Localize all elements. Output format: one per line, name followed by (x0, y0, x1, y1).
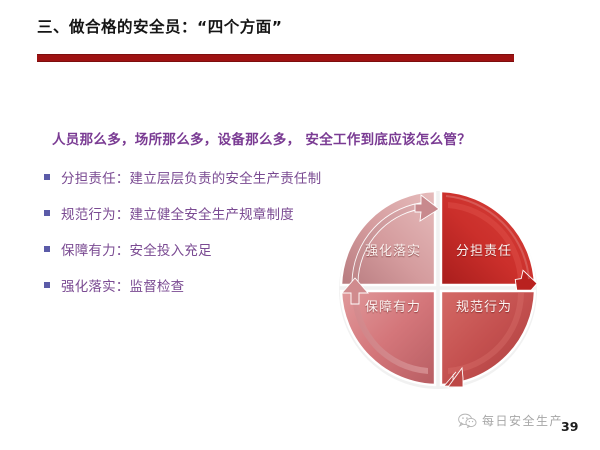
footer-watermark: 每日安全生产 (458, 412, 563, 429)
square-bullet-icon (44, 174, 50, 180)
square-bullet-icon (44, 246, 50, 252)
lead-question: 人员那么多，场所那么多，设备那么多， 安全工作到底应该怎么管？ (52, 128, 471, 148)
title-underline-rule (37, 54, 514, 62)
list-item-label: 强化落实：监督检查 (61, 275, 184, 295)
bullet-list: 分担责任：建立层层负责的安全生产责任制 规范行为：建立健全安全生产规章制度 保障… (44, 167, 374, 311)
list-item: 保障有力：安全投入充足 (44, 239, 374, 275)
list-item: 规范行为：建立健全安全生产规章制度 (44, 203, 374, 239)
square-bullet-icon (44, 282, 50, 288)
quadrant-top-right (441, 191, 539, 299)
quadrant-top-left (341, 191, 439, 285)
title-block: 三、做合格的安全员：“四个方面” (37, 18, 517, 37)
slide-canvas: 三、做合格的安全员：“四个方面” 人员那么多，场所那么多，设备那么多， 安全工作… (0, 0, 600, 450)
page-number: 39 (561, 419, 578, 434)
wechat-icon (458, 413, 477, 428)
list-item-label: 规范行为：建立健全安全生产规章制度 (61, 203, 294, 223)
quadrant-bottom-right (441, 291, 535, 387)
four-aspects-cycle-diagram: 强化落实 分担责任 保障有力 规范行为 (332, 182, 544, 394)
list-item: 分担责任：建立层层负责的安全生产责任制 (44, 167, 374, 203)
list-item: 强化落实：监督检查 (44, 275, 374, 311)
page-title: 三、做合格的安全员：“四个方面” (37, 18, 517, 37)
list-item-label: 保障有力：安全投入充足 (61, 239, 212, 259)
list-item-label: 分担责任：建立层层负责的安全生产责任制 (61, 167, 321, 187)
square-bullet-icon (44, 210, 50, 216)
quadrant-bottom-left (341, 278, 435, 385)
watermark-label: 每日安全生产 (482, 412, 563, 429)
